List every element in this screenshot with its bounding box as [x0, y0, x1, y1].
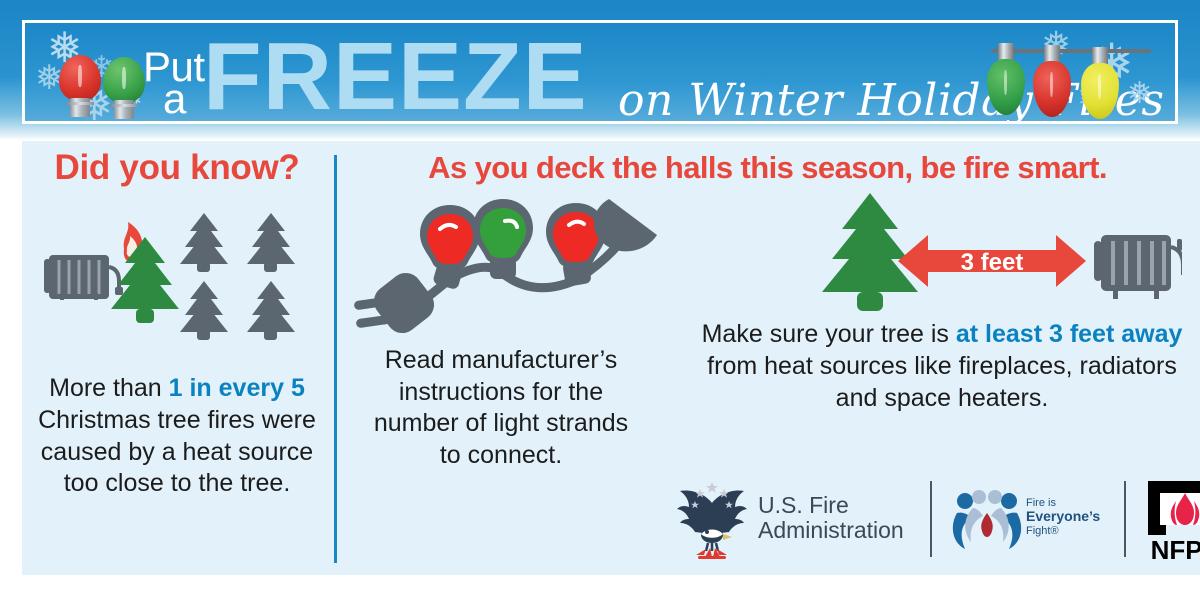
middle-column: Read manufacturer’s instructions for the…	[342, 195, 662, 575]
holiday-bulb-icon	[59, 55, 101, 117]
holiday-bulb-icon	[987, 43, 1025, 115]
headline-freeze: FREEZE	[203, 29, 588, 124]
holiday-bulb-icon	[1033, 45, 1071, 117]
right-body-part2: from heat sources like fireplaces, radia…	[707, 352, 1177, 412]
plug-icon	[354, 267, 441, 340]
fief-line-3: Fight®	[1026, 525, 1100, 537]
nfpa-mark-icon: NFPA ®	[1144, 477, 1200, 563]
christmas-tree-gray-icon	[247, 281, 295, 340]
fief-logo-text: Fire is Everyone’s Fight®	[1026, 497, 1100, 537]
nfpa-logo: NFPA ®	[1144, 477, 1200, 563]
fief-line-2: Everyone’s	[1026, 509, 1100, 525]
logo-divider	[930, 481, 932, 557]
usfa-line-1: U.S. Fire	[758, 493, 904, 518]
content-panel: Did you know?	[22, 141, 1200, 575]
right-body-highlight: at least 3 feet away	[956, 320, 1183, 348]
radiator-icon	[44, 255, 123, 300]
arrow-label: 3 feet	[961, 249, 1024, 276]
usfa-eagle-icon	[672, 477, 752, 563]
nfpa-wordmark: NFPA	[1151, 535, 1200, 563]
bulb-red-icon	[420, 205, 480, 270]
holiday-bulb-icon	[103, 57, 145, 119]
holiday-bulb-icon	[1081, 47, 1119, 119]
logo-strip: U.S. Fire Administration Fire is Everyon…	[652, 471, 1197, 571]
column-divider	[334, 155, 337, 563]
christmas-tree-green-icon	[822, 193, 918, 311]
christmas-tree-gray-icon	[247, 213, 295, 272]
fief-people-icon	[952, 485, 1022, 551]
radiator-icon	[1094, 235, 1182, 299]
logo-divider	[1124, 481, 1126, 557]
middle-body-text: Read manufacturer’s instructions for the…	[370, 345, 632, 471]
christmas-tree-gray-icon	[180, 213, 228, 272]
christmas-tree-gray-icon	[180, 281, 228, 340]
left-body-part1: More than	[49, 374, 169, 402]
main-heading: As you deck the halls this season, be fi…	[340, 150, 1195, 186]
burning-tree-and-four-gray-trees-graphic	[40, 203, 330, 351]
us-fire-administration-logo: U.S. Fire Administration	[672, 477, 912, 563]
header-inner-frame: ❅ ❄ ❅ ❅ ❄ Put a FREEZE on Winter Holiday…	[22, 20, 1178, 124]
did-you-know-heading: Did you know?	[22, 148, 332, 188]
christmas-tree-green-icon	[111, 237, 179, 323]
tree-distance-radiator-graphic: 3 feet	[802, 189, 1182, 317]
usfa-logo-text: U.S. Fire Administration	[758, 493, 904, 543]
headline-a: a	[163, 75, 186, 123]
left-body-text: More than 1 in every 5 Christmas tree fi…	[28, 373, 326, 500]
fire-is-everyones-fight-logo: Fire is Everyone’s Fight®	[952, 485, 1120, 555]
header-banner: ❅ ❄ ❅ ❅ ❄ Put a FREEZE on Winter Holiday…	[0, 0, 1200, 140]
bulb-green-icon	[473, 199, 533, 264]
right-body-part1: Make sure your tree is	[702, 320, 956, 348]
light-strand-graphic	[350, 195, 660, 345]
usfa-line-2: Administration	[758, 518, 904, 543]
left-body-highlight: 1 in every 5	[169, 374, 305, 402]
left-column: Did you know?	[22, 141, 332, 575]
right-body-text: Make sure your tree is at least 3 feet a…	[692, 319, 1192, 414]
left-body-part2: Christmas tree fires were caused by a he…	[38, 406, 316, 498]
